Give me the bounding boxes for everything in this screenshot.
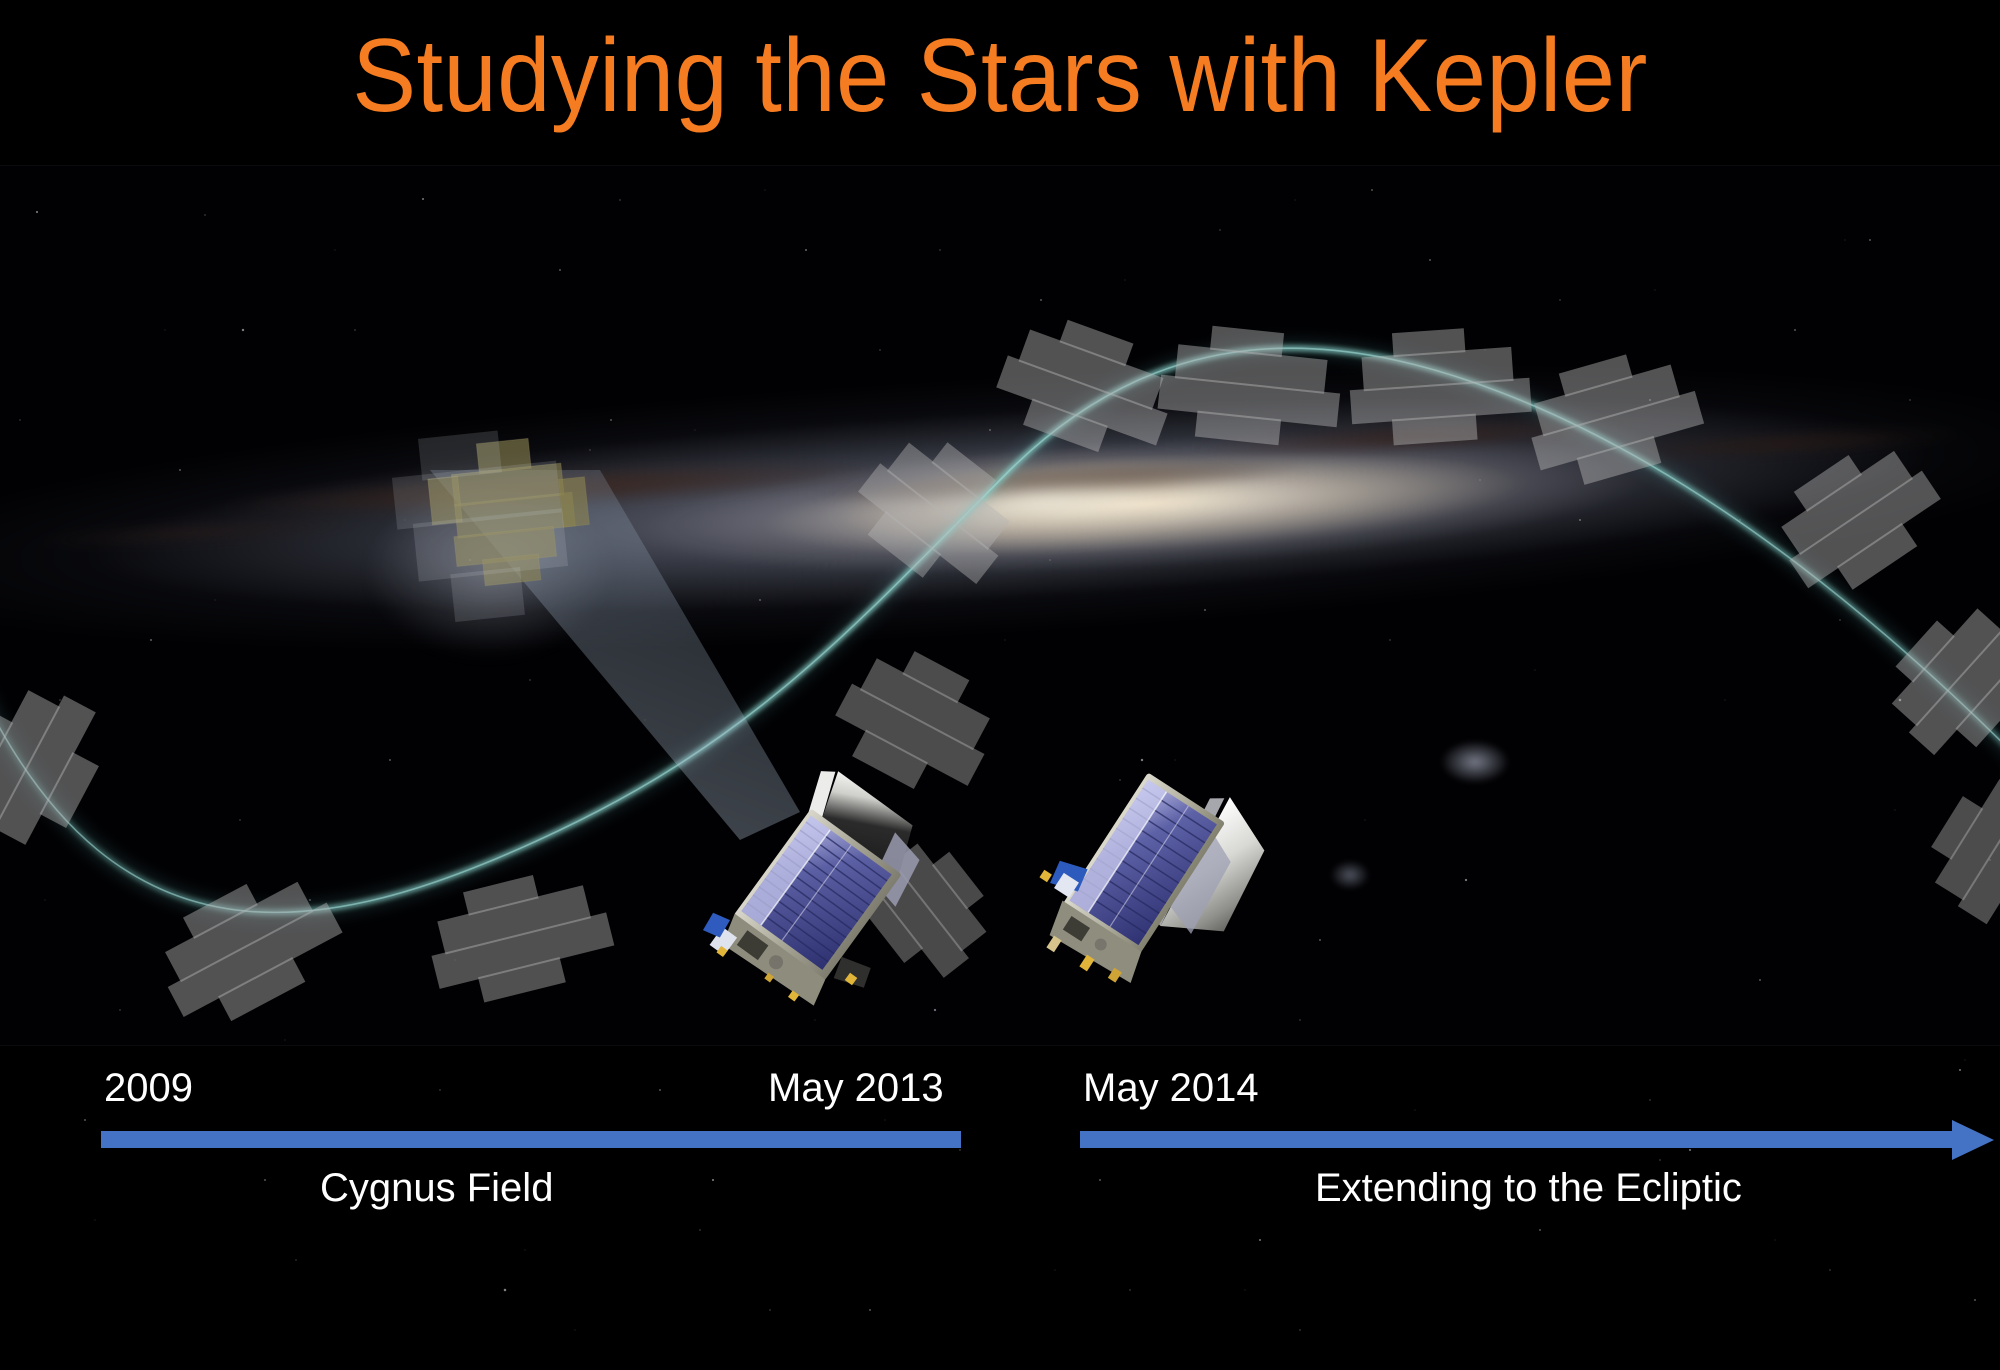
timeline-end-label-cygnus: May 2013 <box>768 1068 944 1108</box>
slide-canvas: Studying the Stars with Kepler 2009 May … <box>0 0 2000 1370</box>
page-title: Studying the Stars with Kepler <box>80 24 1920 128</box>
cygnus-field-aperture-overlay <box>388 419 628 641</box>
timeline-caption-cygnus: Cygnus Field <box>320 1168 553 1208</box>
kepler-spacecraft-k2 <box>1040 770 1280 1010</box>
timeline-arrowhead-k2 <box>1952 1114 2000 1166</box>
timeline-start-label-cygnus: 2009 <box>104 1068 193 1108</box>
k2-field-08 <box>1346 324 1534 456</box>
k2-field-07 <box>1154 321 1346 459</box>
timeline-bar-cygnus <box>101 1131 961 1148</box>
kepler-spacecraft-prime <box>700 790 960 1020</box>
timeline-start-label-k2: May 2014 <box>1083 1068 1259 1108</box>
timeline-caption-k2: Extending to the Ecliptic <box>1315 1168 1742 1208</box>
field-of-view-beam <box>0 0 2000 1370</box>
timeline-bar-k2 <box>1080 1131 1960 1148</box>
